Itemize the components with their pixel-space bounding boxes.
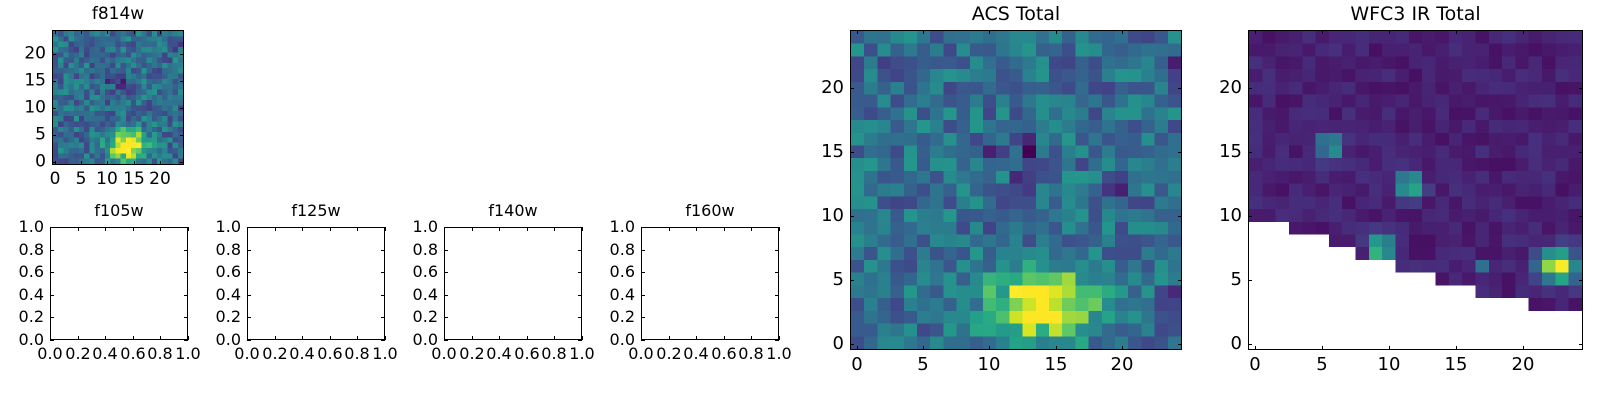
yticklabel-f160w-2: 0.4 [563,287,635,303]
ytick-acs-total-3 [850,152,854,153]
ytick-f814w-1 [52,135,56,136]
xticklabel-f105w-1: 0.2 [65,346,90,362]
xtick-f105w-1 [78,336,79,340]
xticklabel-f105w-5: 1.0 [175,346,200,362]
ytick-acs-total-2 [850,216,854,217]
xticklabel-f160w-4: 0.8 [738,346,763,362]
yticklabel-acs-total-2: 10 [772,207,844,225]
ytick-right-wfc3-ir-total-2 [1579,216,1583,217]
ytick-right-f814w-1 [180,135,184,136]
ytick-f105w-5 [50,227,54,228]
xticklabel-f140w-4: 0.8 [541,346,566,362]
ytick-f814w-3 [52,81,56,82]
yticklabel-f814w-4: 20 [0,46,46,63]
xtick-f140w-2 [499,336,500,340]
xtick-top-f160w-4 [751,227,752,231]
xticklabel-f814w-4: 20 [149,171,171,188]
xticklabel-wfc3-ir-total-1: 5 [1316,356,1327,374]
xtick-f125w-4 [357,336,358,340]
xtick-top-f105w-1 [78,227,79,231]
xticklabel-f160w-1: 0.2 [656,346,681,362]
xtick-wfc3-ir-total-3 [1456,346,1457,350]
ytick-right-f814w-4 [180,54,184,55]
xtick-f140w-4 [554,336,555,340]
xticklabel-f814w-2: 10 [96,171,118,188]
xticklabel-wfc3-ir-total-3: 15 [1445,356,1468,374]
xtick-f125w-2 [302,336,303,340]
ytick-f814w-2 [52,108,56,109]
xtick-f160w-4 [751,336,752,340]
ytick-f105w-4 [50,250,54,251]
xtick-top-f814w-3 [134,30,135,34]
ytick-f140w-3 [444,272,448,273]
xtick-top-acs-total-1 [923,30,924,34]
xticklabel-f125w-1: 0.2 [262,346,287,362]
ytick-f160w-5 [641,227,645,228]
yticklabel-f814w-2: 10 [0,100,46,117]
ytick-f125w-1 [247,317,251,318]
ytick-f814w-4 [52,54,56,55]
xtick-f105w-4 [160,336,161,340]
yticklabel-f814w-0: 0 [0,154,46,171]
xtick-f814w-3 [134,161,135,165]
ytick-right-wfc3-ir-total-1 [1579,280,1583,281]
xticklabel-f160w-3: 0.6 [711,346,736,362]
ytick-wfc3-ir-total-3 [1248,152,1252,153]
ytick-f160w-4 [641,250,645,251]
xtick-top-f160w-3 [724,227,725,231]
xtick-top-f140w-4 [554,227,555,231]
xticklabel-f105w-3: 0.6 [120,346,145,362]
ytick-f140w-2 [444,295,448,296]
xtick-f125w-1 [275,336,276,340]
xticklabel-wfc3-ir-total-4: 20 [1512,356,1535,374]
yticklabel-f140w-3: 0.6 [366,264,438,280]
ytick-right-wfc3-ir-total-4 [1579,88,1583,89]
xtick-top-wfc3-ir-total-0 [1255,30,1256,34]
xtick-top-f125w-4 [357,227,358,231]
yticklabel-f105w-0: 0.0 [0,332,44,348]
axes-f105w[interactable] [50,227,188,340]
ytick-f140w-1 [444,317,448,318]
ytick-wfc3-ir-total-4 [1248,88,1252,89]
yticklabel-acs-total-3: 15 [772,143,844,161]
xticklabel-f125w-4: 0.8 [344,346,369,362]
panel-title-wfc3-ir-total: WFC3 IR Total [1248,5,1583,24]
yticklabel-f140w-5: 1.0 [366,219,438,235]
ytick-acs-total-0 [850,344,854,345]
ytick-f125w-5 [247,227,251,228]
xtick-top-f814w-0 [55,30,56,34]
xtick-top-f125w-3 [330,227,331,231]
ytick-right-wfc3-ir-total-0 [1579,344,1583,345]
xtick-f814w-2 [107,161,108,165]
xtick-top-f125w-2 [302,227,303,231]
yticklabel-wfc3-ir-total-2: 10 [1170,207,1242,225]
yticklabel-acs-total-0: 0 [772,335,844,353]
ytick-right-wfc3-ir-total-3 [1579,152,1583,153]
ytick-f160w-1 [641,317,645,318]
axes-wfc3-ir-total[interactable] [1248,30,1583,350]
yticklabel-f160w-4: 0.8 [563,242,635,258]
panel-title-acs-total: ACS Total [850,5,1182,24]
xtick-top-f105w-2 [105,227,106,231]
ytick-acs-total-1 [850,280,854,281]
xticklabel-f160w-2: 0.4 [683,346,708,362]
yticklabel-wfc3-ir-total-4: 20 [1170,79,1242,97]
xtick-top-wfc3-ir-total-4 [1523,30,1524,34]
axes-f140w[interactable] [444,227,582,340]
yticklabel-f140w-4: 0.8 [366,242,438,258]
xticklabel-f140w-3: 0.6 [514,346,539,362]
xticklabel-acs-total-3: 15 [1045,356,1068,374]
xtick-acs-total-1 [923,346,924,350]
xticklabel-f125w-3: 0.6 [317,346,342,362]
xtick-top-wfc3-ir-total-1 [1322,30,1323,34]
xticklabel-f140w-5: 1.0 [569,346,594,362]
yticklabel-f160w-5: 1.0 [563,219,635,235]
xticklabel-f125w-5: 1.0 [372,346,397,362]
xticklabel-acs-total-2: 10 [978,356,1001,374]
yticklabel-f160w-3: 0.6 [563,264,635,280]
ytick-acs-total-4 [850,88,854,89]
yticklabel-wfc3-ir-total-3: 15 [1170,143,1242,161]
xtick-top-f105w-3 [133,227,134,231]
ytick-right-f160w-1 [775,317,779,318]
xtick-wfc3-ir-total-4 [1523,346,1524,350]
xtick-top-wfc3-ir-total-3 [1456,30,1457,34]
yticklabel-f105w-2: 0.4 [0,287,44,303]
yticklabel-f125w-5: 1.0 [169,219,241,235]
yticklabel-f160w-1: 0.2 [563,309,635,325]
ytick-f160w-2 [641,295,645,296]
heatmap-image-f814w [53,31,183,164]
yticklabel-f140w-0: 0.0 [366,332,438,348]
yticklabel-f105w-4: 0.8 [0,242,44,258]
xtick-f160w-3 [724,336,725,340]
xticklabel-f105w-2: 0.4 [92,346,117,362]
yticklabel-f125w-0: 0.0 [169,332,241,348]
xtick-top-f160w-5 [779,227,780,231]
xtick-f814w-4 [160,161,161,165]
xtick-f140w-1 [472,336,473,340]
panel-title-f140w: f140w [444,203,582,219]
yticklabel-f814w-1: 5 [0,127,46,144]
xtick-f105w-3 [133,336,134,340]
xtick-top-f140w-1 [472,227,473,231]
panel-title-f125w: f125w [247,203,385,219]
yticklabel-f105w-1: 0.2 [0,309,44,325]
axes-f160w[interactable] [641,227,779,340]
xtick-top-f140w-3 [527,227,528,231]
xtick-top-f814w-1 [81,30,82,34]
xtick-top-acs-total-4 [1122,30,1123,34]
xticklabel-f814w-3: 15 [123,171,145,188]
yticklabel-f125w-3: 0.6 [169,264,241,280]
ytick-f160w-0 [641,340,645,341]
xtick-top-f160w-1 [669,227,670,231]
xtick-acs-total-3 [1056,346,1057,350]
panel-title-f105w: f105w [50,203,188,219]
xticklabel-f105w-4: 0.8 [147,346,172,362]
ytick-f125w-0 [247,340,251,341]
yticklabel-f125w-2: 0.4 [169,287,241,303]
xticklabel-wfc3-ir-total-0: 0 [1249,356,1260,374]
xtick-acs-total-0 [857,346,858,350]
xticklabel-f814w-0: 0 [50,171,61,188]
ytick-f140w-0 [444,340,448,341]
yticklabel-wfc3-ir-total-0: 0 [1170,335,1242,353]
yticklabel-acs-total-4: 20 [772,79,844,97]
xtick-top-acs-total-2 [989,30,990,34]
ytick-right-f814w-2 [180,108,184,109]
yticklabel-f105w-3: 0.6 [0,264,44,280]
heatmap-image-acs-total [851,31,1181,349]
heatmap-image-wfc3-ir-total [1249,31,1582,349]
xtick-wfc3-ir-total-0 [1255,346,1256,350]
xtick-top-acs-total-0 [857,30,858,34]
yticklabel-f125w-4: 0.8 [169,242,241,258]
xticklabel-f140w-1: 0.2 [459,346,484,362]
ytick-f125w-3 [247,272,251,273]
axes-f814w[interactable] [52,30,184,165]
yticklabel-f140w-2: 0.4 [366,287,438,303]
xtick-wfc3-ir-total-1 [1322,346,1323,350]
ytick-f105w-2 [50,295,54,296]
xtick-top-f105w-4 [160,227,161,231]
ytick-f125w-2 [247,295,251,296]
xtick-top-f125w-1 [275,227,276,231]
axes-acs-total[interactable] [850,30,1182,350]
xticklabel-acs-total-4: 20 [1111,356,1134,374]
xtick-acs-total-2 [989,346,990,350]
ytick-f105w-0 [50,340,54,341]
ytick-f814w-0 [52,162,56,163]
xtick-top-f160w-2 [696,227,697,231]
ytick-right-f160w-4 [775,250,779,251]
xtick-top-acs-total-3 [1056,30,1057,34]
xtick-f125w-3 [330,336,331,340]
xtick-f814w-1 [81,161,82,165]
ytick-wfc3-ir-total-1 [1248,280,1252,281]
ytick-right-f814w-0 [180,162,184,163]
xtick-top-wfc3-ir-total-2 [1389,30,1390,34]
xtick-f140w-3 [527,336,528,340]
ytick-right-f160w-5 [775,227,779,228]
yticklabel-f105w-5: 1.0 [0,219,44,235]
xtick-top-f814w-2 [107,30,108,34]
xtick-top-f140w-2 [499,227,500,231]
ytick-f105w-3 [50,272,54,273]
xtick-f105w-2 [105,336,106,340]
xtick-wfc3-ir-total-2 [1389,346,1390,350]
xtick-top-f814w-4 [160,30,161,34]
yticklabel-wfc3-ir-total-1: 5 [1170,271,1242,289]
xtick-f160w-2 [696,336,697,340]
axes-f125w[interactable] [247,227,385,340]
ytick-f140w-4 [444,250,448,251]
ytick-wfc3-ir-total-0 [1248,344,1252,345]
xticklabel-f814w-1: 5 [76,171,87,188]
ytick-right-f814w-3 [180,81,184,82]
yticklabel-f160w-0: 0.0 [563,332,635,348]
xticklabel-acs-total-0: 0 [851,356,862,374]
ytick-f105w-1 [50,317,54,318]
xticklabel-f140w-2: 0.4 [486,346,511,362]
yticklabel-f814w-3: 15 [0,73,46,90]
yticklabel-f125w-1: 0.2 [169,309,241,325]
ytick-f160w-3 [641,272,645,273]
yticklabel-acs-total-1: 5 [772,271,844,289]
xticklabel-wfc3-ir-total-2: 10 [1378,356,1401,374]
xtick-acs-total-4 [1122,346,1123,350]
xtick-f160w-1 [669,336,670,340]
panel-title-f160w: f160w [641,203,779,219]
ytick-right-f160w-2 [775,295,779,296]
panel-title-f814w: f814w [52,6,184,23]
xticklabel-acs-total-1: 5 [917,356,928,374]
xticklabel-f125w-2: 0.4 [289,346,314,362]
ytick-f140w-5 [444,227,448,228]
ytick-f125w-4 [247,250,251,251]
yticklabel-f140w-1: 0.2 [366,309,438,325]
ytick-wfc3-ir-total-2 [1248,216,1252,217]
